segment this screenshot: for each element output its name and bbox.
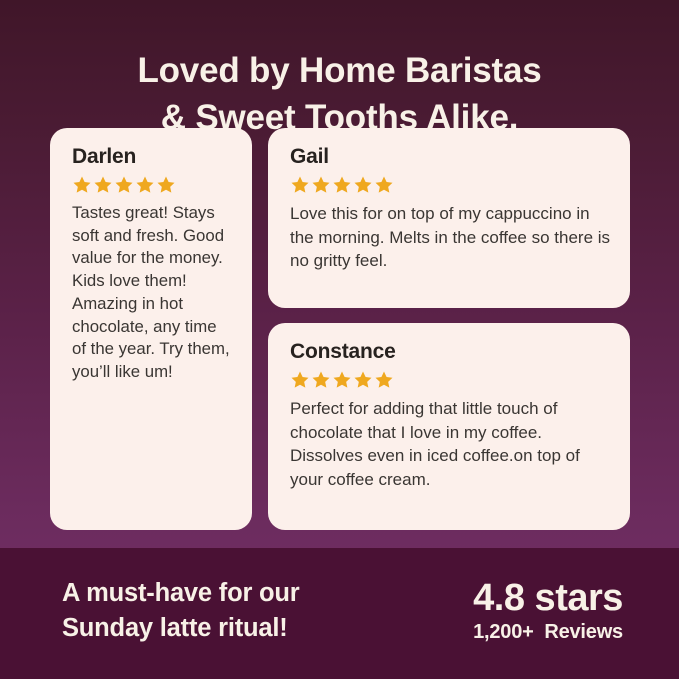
star-icon <box>93 175 113 195</box>
footer-content: A must-have for our Sunday latte ritual!… <box>0 548 679 679</box>
review-text: Perfect for adding that little touch of … <box>290 397 611 492</box>
star-icon <box>156 175 176 195</box>
review-card-list: Darlen Tastes great! Stays soft and fres… <box>50 128 630 530</box>
rating-score: 4.8 stars <box>473 577 623 619</box>
review-card-gail: Gail Love this for on top of my cappucci… <box>268 128 630 308</box>
reviewer-name: Gail <box>290 145 611 169</box>
footer-quote: A must-have for our Sunday latte ritual! <box>62 576 300 646</box>
star-rating <box>290 368 611 391</box>
review-text: Love this for on top of my cappuccino in… <box>290 202 611 273</box>
star-icon <box>114 175 134 195</box>
star-icon <box>332 175 352 195</box>
review-text: Tastes great! Stays soft and fresh. Good… <box>72 202 233 384</box>
reviewer-name: Darlen <box>72 145 233 169</box>
star-rating <box>290 173 611 196</box>
star-icon <box>311 370 331 390</box>
review-card-darlen: Darlen Tastes great! Stays soft and fres… <box>50 128 252 530</box>
star-icon <box>311 175 331 195</box>
star-icon <box>353 370 373 390</box>
star-icon <box>353 175 373 195</box>
reviewer-name: Constance <box>290 340 611 364</box>
footer-quote-line-2: Sunday latte ritual! <box>62 611 300 646</box>
star-icon <box>332 370 352 390</box>
footer-band: A must-have for our Sunday latte ritual!… <box>0 548 679 679</box>
star-icon <box>135 175 155 195</box>
star-icon <box>290 370 310 390</box>
star-rating <box>72 173 233 196</box>
footer-quote-line-1: A must-have for our <box>62 576 300 611</box>
page-title-line-1: Loved by Home Baristas <box>0 47 679 94</box>
star-icon <box>290 175 310 195</box>
review-card-constance: Constance Perfect for adding that little… <box>268 323 630 530</box>
star-icon <box>374 175 394 195</box>
overall-rating: 4.8 stars 1,200+ Reviews <box>473 577 623 645</box>
review-poster: Loved by Home Baristas & Sweet Tooths Al… <box>0 0 679 679</box>
star-icon <box>72 175 92 195</box>
star-icon <box>374 370 394 390</box>
review-count: 1,200+ Reviews <box>473 619 623 645</box>
